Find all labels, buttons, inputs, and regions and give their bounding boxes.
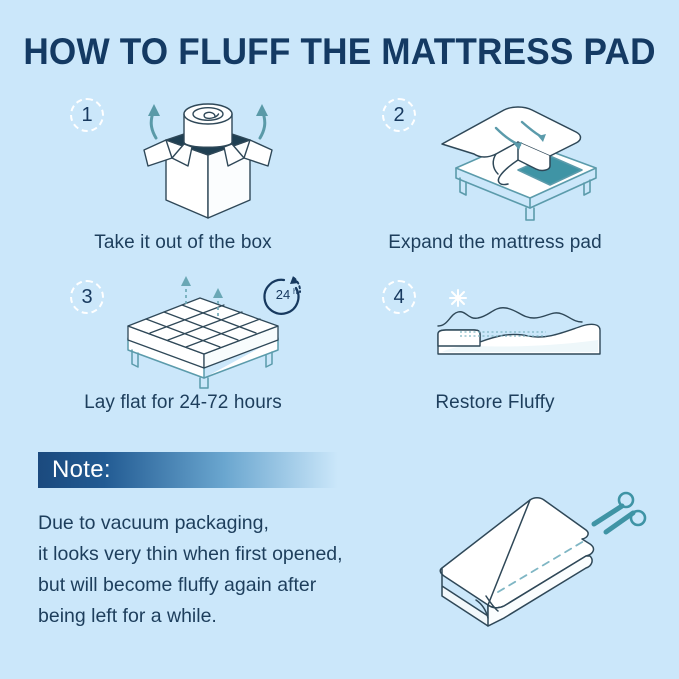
note-line-3: but will become fluffy again after [38,570,428,601]
note-label: Note: [38,456,111,484]
note-body: Due to vacuum packaging, it looks very t… [38,508,428,632]
note-banner: Note: [38,452,338,488]
note-line-1: Due to vacuum packaging, [38,508,428,539]
step-caption-2: Expand the mattress pad [340,232,650,254]
step-caption-4: Restore Fluffy [340,392,650,414]
box-with-rolled-pad-icon [88,92,328,222]
step-item-2: 2 [340,92,650,262]
step-item-1: 1 [28,92,338,262]
step-item-3: 3 [28,274,338,444]
step-item-4: 4 [340,274,650,444]
page-title: HOW TO FLUFF THE MATTRESS PAD [17,31,662,73]
step-caption-3: Lay flat for 24-72 hours [28,392,338,414]
timer-unit: h [293,287,297,296]
infographic-page: HOW TO FLUFF THE MATTRESS PAD 1 [0,0,679,679]
timer-value: 24 [276,287,290,302]
step-caption-1: Take it out of the box [28,232,338,254]
lofted-pad-profile-icon [400,274,640,384]
bed-unrolling-pad-icon [400,92,640,222]
steps-grid: 1 [0,92,679,422]
vacuum-package-with-scissors-icon [420,478,670,643]
note-line-2: it looks very thin when first opened, [38,539,428,570]
note-line-4: being left for a while. [38,601,428,632]
quilted-pad-on-bed-icon: 24 h [88,274,328,384]
